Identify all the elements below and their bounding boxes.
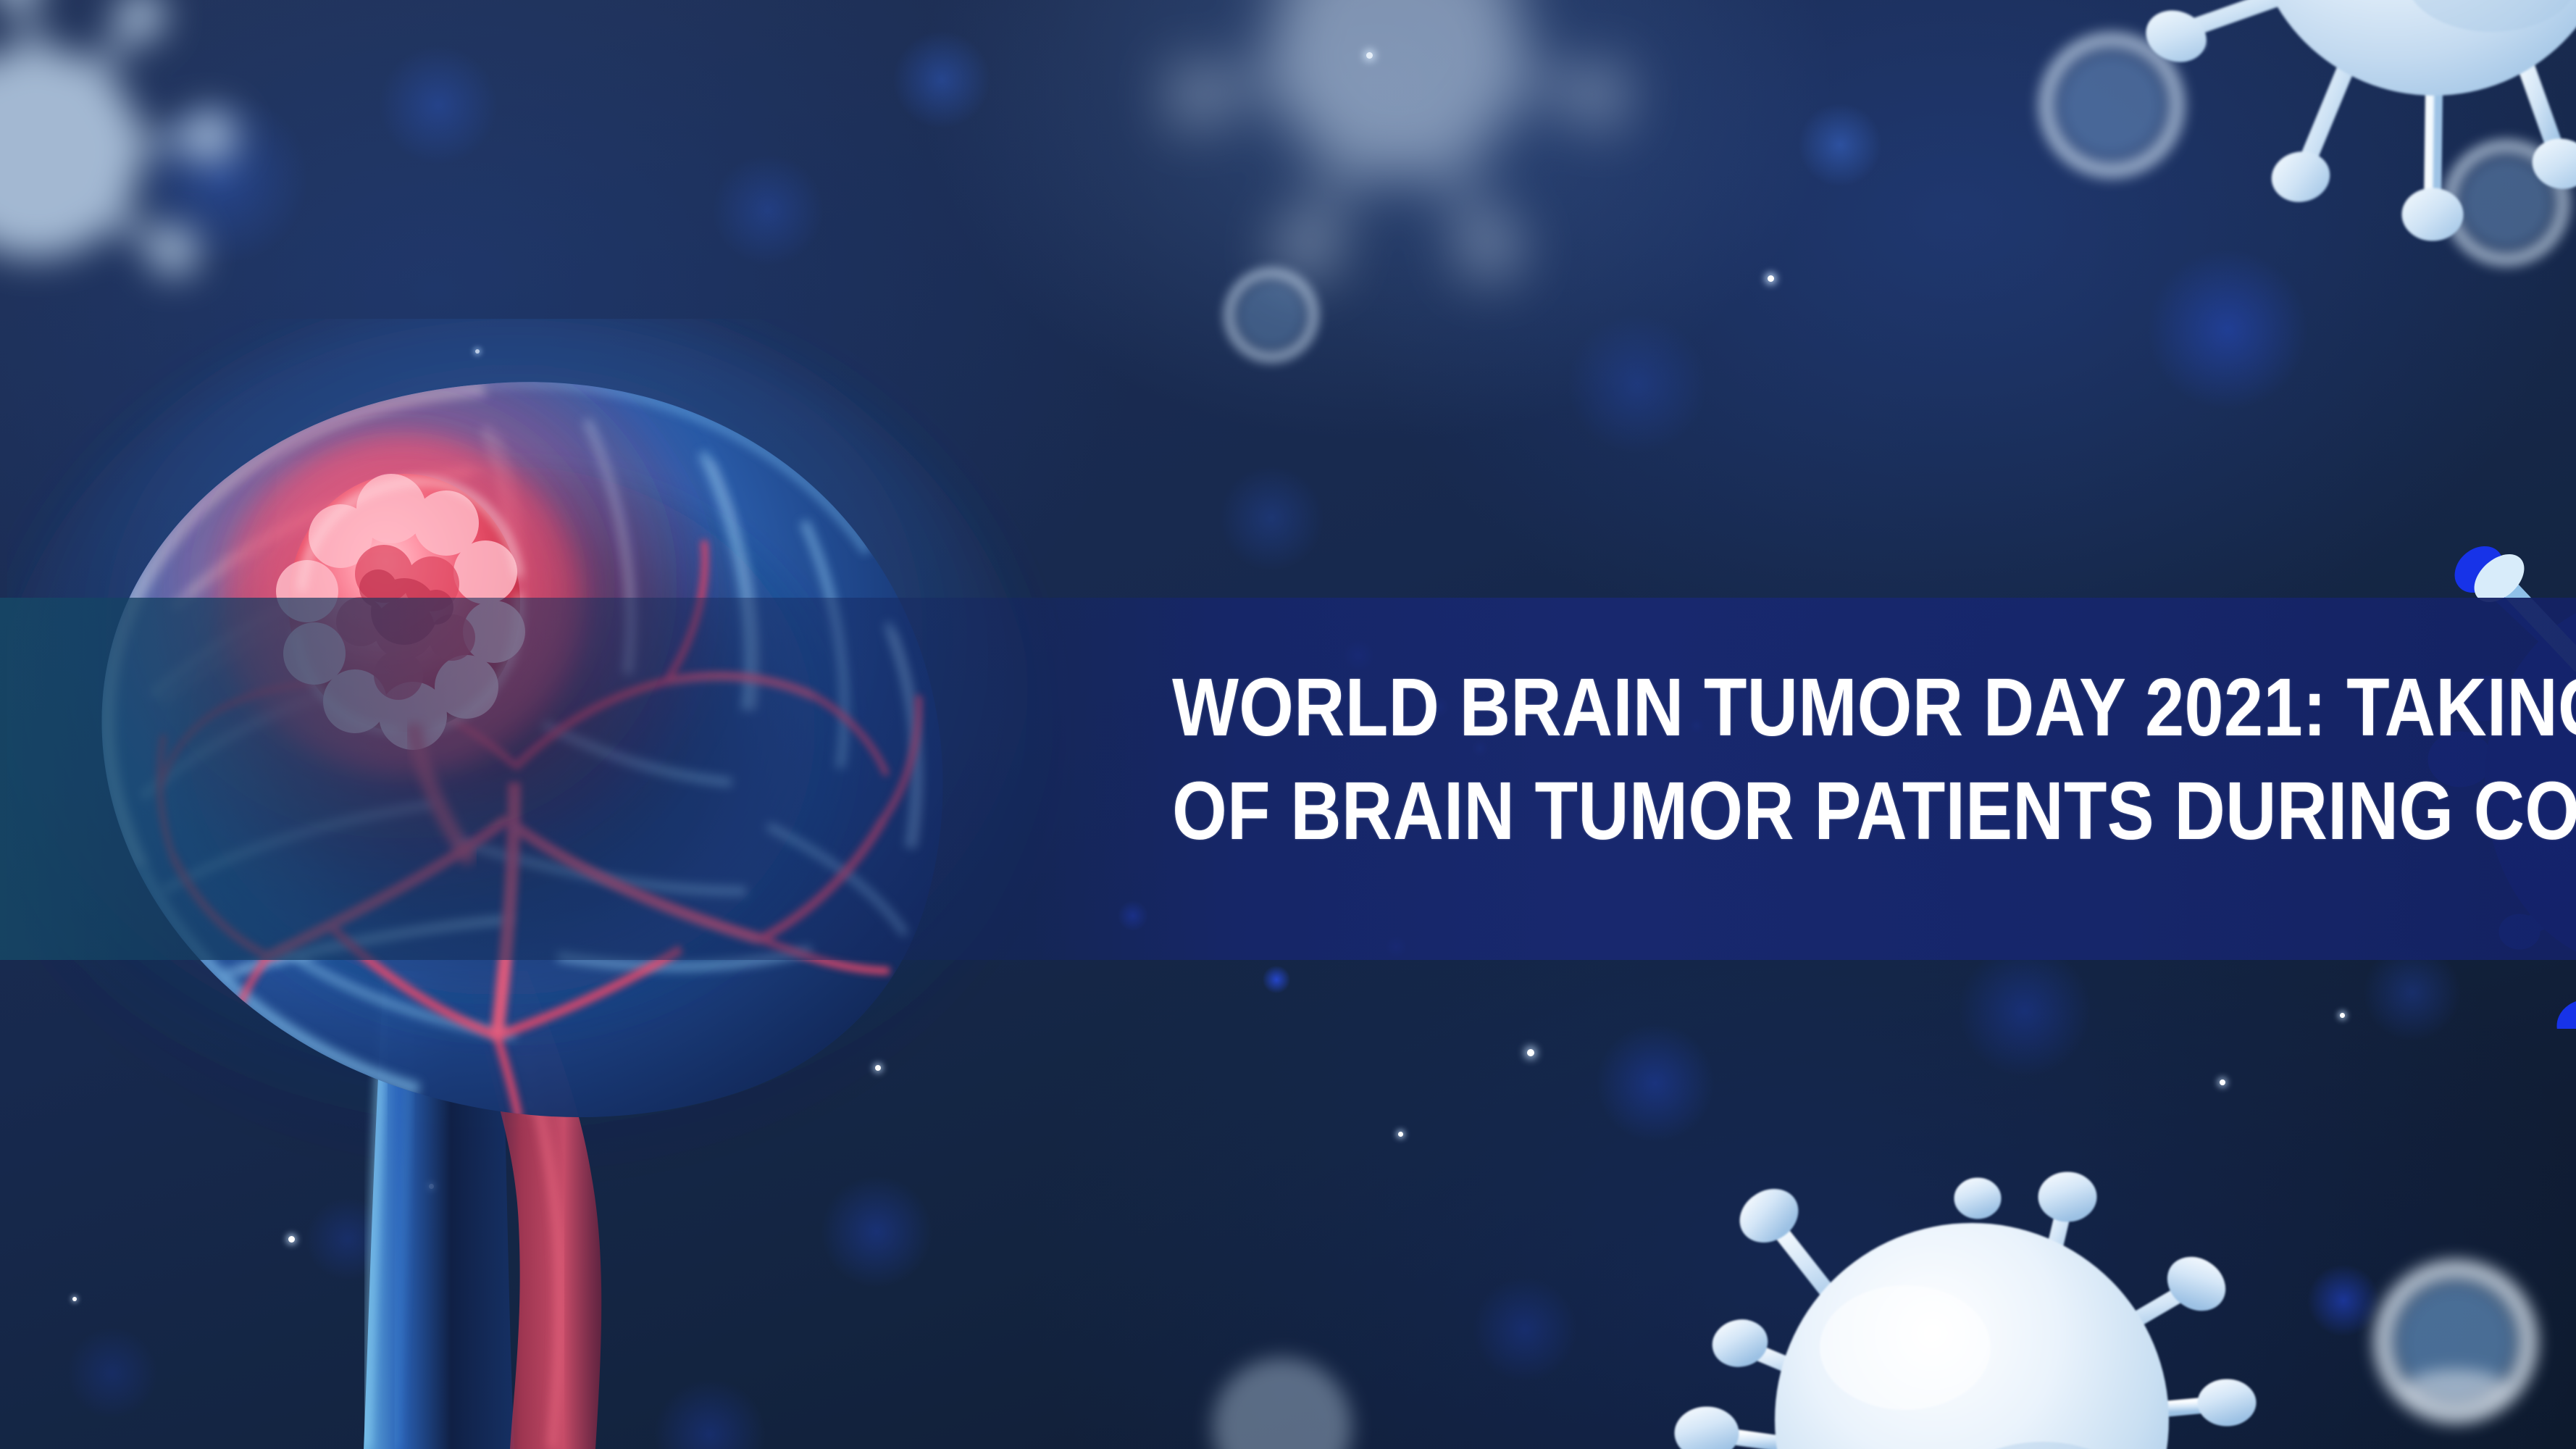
cell-mid-left-blurred-icon (1217, 261, 1326, 369)
cell-bottom-right-blurred-icon (2362, 1253, 2550, 1435)
virus-top-left-blurred-icon (0, 0, 261, 283)
cell-lower-mid-blurred-icon (1188, 1333, 1376, 1449)
headline-line-2: OF BRAIN TUMOR PATIENTS DURING COVID-19 (1172, 759, 2375, 863)
cell-upper-right-blurred-icon (2434, 130, 2576, 275)
poster-canvas: WORLD BRAIN TUMOR DAY 2021: TAKING CARE … (0, 0, 2576, 1449)
headline-line-1: WORLD BRAIN TUMOR DAY 2021: TAKING CARE (1172, 656, 2375, 759)
virus-bottom-center-icon (1637, 1108, 2318, 1449)
virus-top-center-blurred-icon (1174, 0, 1623, 283)
brain-stem (364, 971, 601, 1449)
virus-top-right-icon (2115, 0, 2576, 333)
poster-headline: WORLD BRAIN TUMOR DAY 2021: TAKING CARE … (1074, 656, 2472, 863)
cell-right-mid-blurred-icon (2028, 22, 2195, 188)
